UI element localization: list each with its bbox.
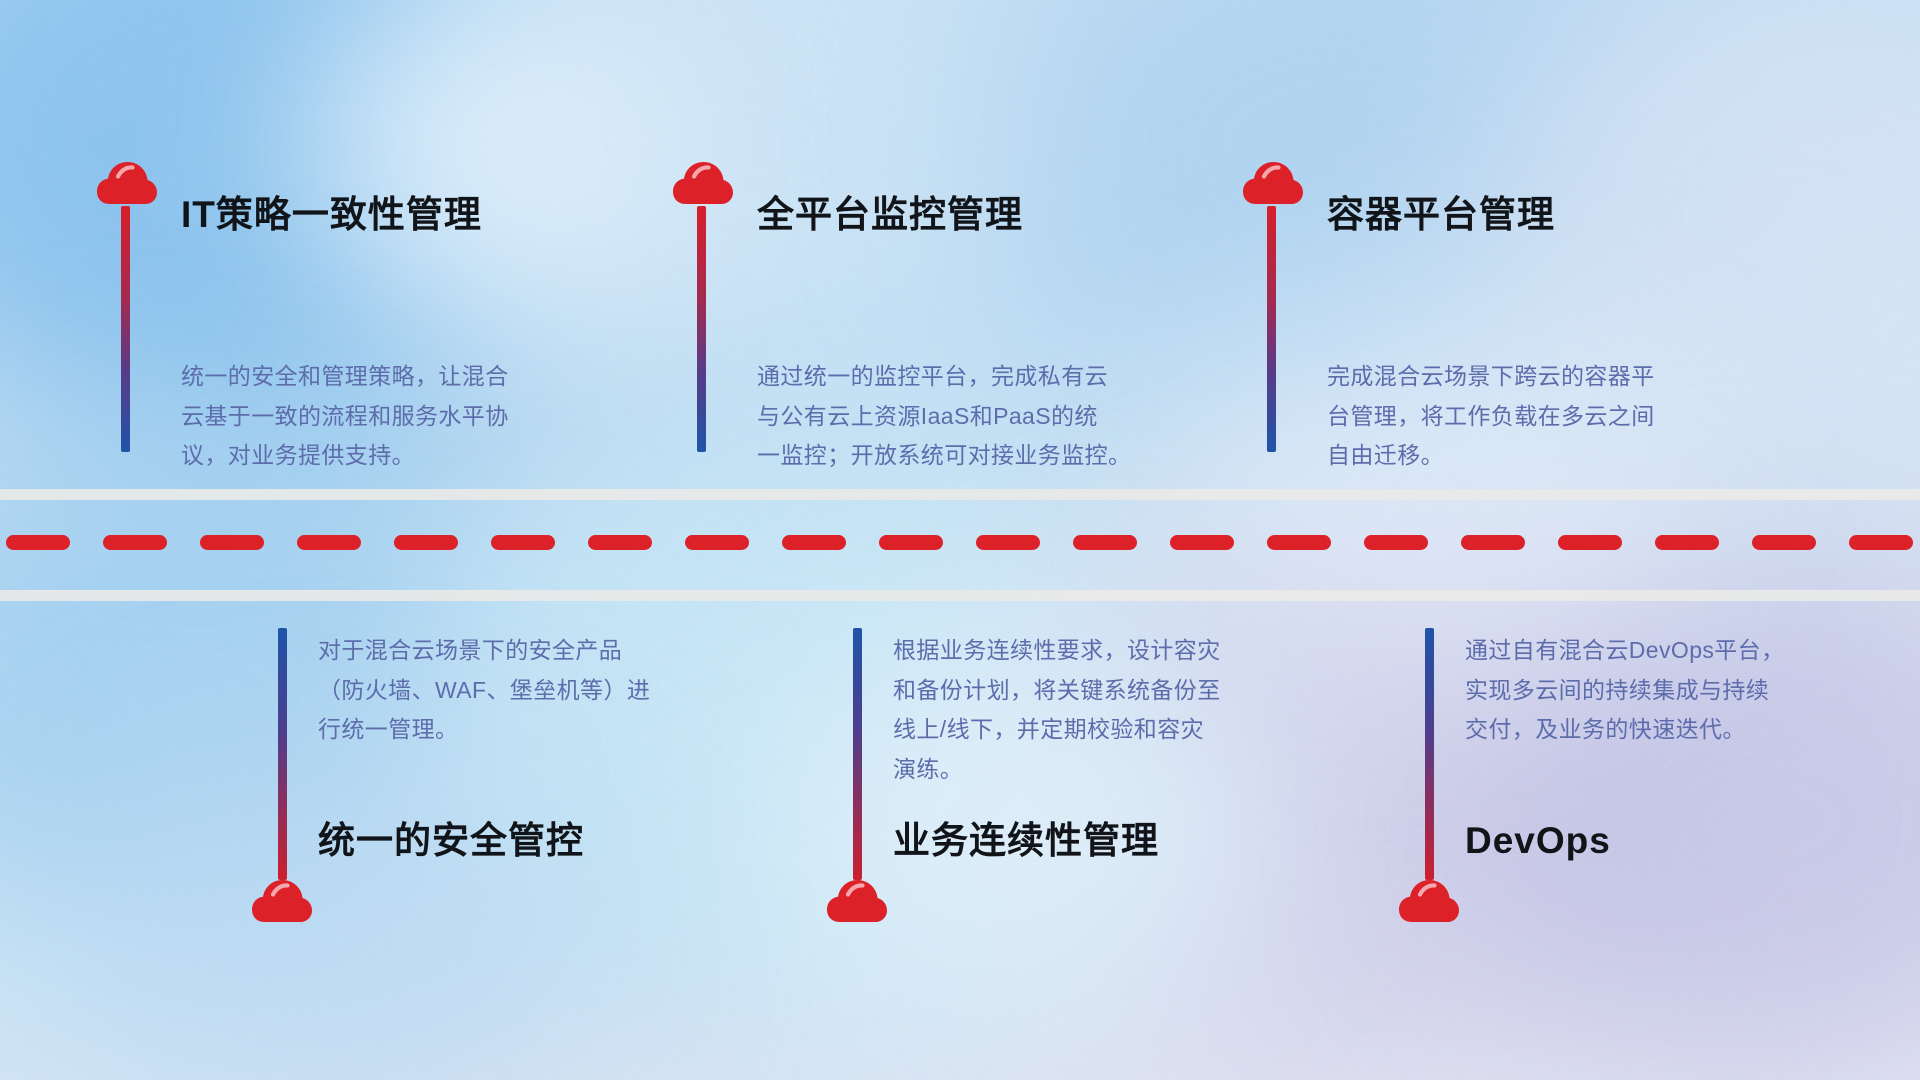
cloud-icon bbox=[672, 160, 734, 206]
feature-title-bottom-3: DevOps bbox=[1465, 821, 1611, 862]
feature-body-bottom-1: 对于混合云场景下的安全产品 （防火墙、WAF、堡垒机等）进 行统一管理。 bbox=[318, 631, 768, 750]
feature-body-bottom-2: 根据业务连续性要求，设计容灾 和备份计划，将关键系统备份至 线上/线下，并定期校… bbox=[893, 631, 1343, 789]
connector-bar-top-1 bbox=[121, 206, 130, 452]
road-line-bottom bbox=[0, 590, 1920, 601]
feature-title-bottom-2: 业务连续性管理 bbox=[893, 821, 1159, 862]
feature-body-top-1: 统一的安全和管理策略，让混合 云基于一致的流程和服务水平协 议，对业务提供支持。 bbox=[181, 357, 611, 476]
road-dash bbox=[1170, 535, 1234, 550]
feature-title-top-1: IT策略一致性管理 bbox=[181, 195, 482, 236]
stem-top-3 bbox=[1242, 160, 1312, 452]
cloud-icon bbox=[251, 878, 313, 924]
road-dash bbox=[6, 535, 70, 550]
road-dash bbox=[685, 535, 749, 550]
road-dash bbox=[297, 535, 361, 550]
cloud-icon bbox=[1242, 160, 1304, 206]
cloud-icon bbox=[826, 878, 888, 924]
stem-top-2 bbox=[672, 160, 742, 452]
cloud-icon bbox=[1398, 878, 1460, 924]
road-dash bbox=[1849, 535, 1913, 550]
road-dash bbox=[394, 535, 458, 550]
connector-bar-top-2 bbox=[697, 206, 706, 452]
road-dash bbox=[1752, 535, 1816, 550]
connector-bar-bottom-3 bbox=[1425, 628, 1434, 880]
stem-top-1 bbox=[96, 160, 166, 452]
road-dash bbox=[1558, 535, 1622, 550]
road-line-top bbox=[0, 489, 1920, 500]
road-dash bbox=[200, 535, 264, 550]
road-dash bbox=[879, 535, 943, 550]
road-dash bbox=[491, 535, 555, 550]
connector-bar-bottom-1 bbox=[278, 628, 287, 880]
stem-bottom-3 bbox=[1400, 628, 1470, 924]
stem-bottom-2 bbox=[828, 628, 898, 924]
road-divider bbox=[0, 480, 1920, 610]
road-dash bbox=[1073, 535, 1137, 550]
cloud-icon bbox=[96, 160, 158, 206]
road-dashed-centerline bbox=[0, 534, 1920, 550]
feature-title-top-3: 容器平台管理 bbox=[1327, 195, 1555, 236]
road-dash bbox=[1461, 535, 1525, 550]
background-blob bbox=[300, 0, 680, 300]
connector-bar-bottom-2 bbox=[853, 628, 862, 880]
feature-title-top-2: 全平台监控管理 bbox=[757, 195, 1023, 236]
road-dash bbox=[1655, 535, 1719, 550]
feature-body-bottom-3: 通过自有混合云DevOps平台， 实现多云间的持续集成与持续 交付，及业务的快速… bbox=[1465, 631, 1905, 750]
connector-bar-top-3 bbox=[1267, 206, 1276, 452]
feature-title-bottom-1: 统一的安全管控 bbox=[318, 821, 584, 862]
road-dash bbox=[1267, 535, 1331, 550]
road-dash bbox=[1364, 535, 1428, 550]
road-dash bbox=[588, 535, 652, 550]
stem-bottom-1 bbox=[253, 628, 323, 924]
feature-body-top-2: 通过统一的监控平台，完成私有云 与公有云上资源IaaS和PaaS的统 一监控；开… bbox=[757, 357, 1237, 476]
road-dash bbox=[976, 535, 1040, 550]
road-dash bbox=[103, 535, 167, 550]
road-dash bbox=[782, 535, 846, 550]
feature-body-top-3: 完成混合云场景下跨云的容器平 台管理，将工作负载在多云之间 自由迁移。 bbox=[1327, 357, 1777, 476]
